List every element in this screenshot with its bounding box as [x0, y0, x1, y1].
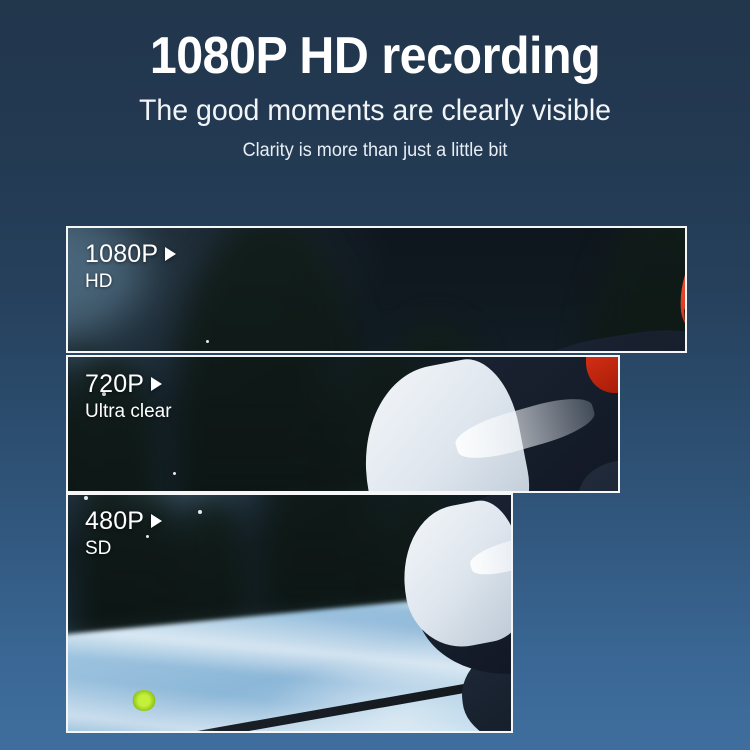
play-triangle-icon[interactable] [151, 514, 162, 528]
promo-page: 1080P HD recording The good moments are … [0, 0, 750, 750]
resolution-label-row: 720P [85, 370, 172, 398]
resolution-card-1080p[interactable]: 1080P HD [66, 226, 687, 353]
quality-label: Ultra clear [85, 398, 172, 424]
header-text-block: 1080P HD recording The good moments are … [0, 0, 750, 162]
play-triangle-icon[interactable] [165, 247, 176, 261]
quality-label: HD [85, 268, 176, 294]
resolution-card-480p[interactable]: 480P SD [66, 493, 513, 733]
page-subtitle: The good moments are clearly visible [19, 84, 732, 127]
quality-label: SD [85, 535, 162, 561]
page-title: 1080P HD recording [26, 0, 724, 84]
card-label-720p: 720P Ultra clear [85, 370, 172, 424]
resolution-text: 480P [85, 507, 144, 535]
resolution-label-row: 480P [85, 507, 162, 535]
page-tagline: Clarity is more than just a little bit [19, 127, 732, 162]
photo-skier [392, 493, 513, 733]
resolution-text: 720P [85, 370, 144, 398]
card-label-1080p: 1080P HD [85, 240, 176, 294]
resolution-text: 1080P [85, 240, 158, 268]
photo-skier [390, 226, 687, 353]
resolution-card-720p[interactable]: 720P Ultra clear [66, 355, 620, 493]
resolution-label-row: 1080P [85, 240, 176, 268]
card-label-480p: 480P SD [85, 507, 162, 561]
play-triangle-icon[interactable] [151, 377, 162, 391]
photo-skier [350, 355, 620, 493]
